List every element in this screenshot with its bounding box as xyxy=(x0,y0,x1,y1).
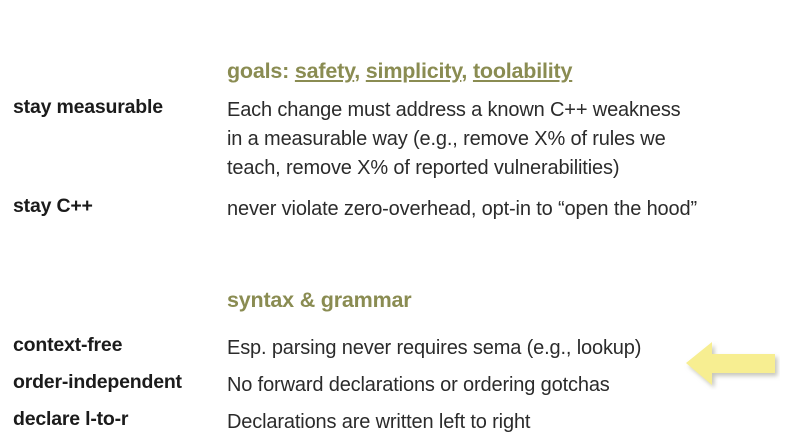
content-rows: goals: safety, simplicity, toolability s… xyxy=(0,0,788,435)
goal-item-toolability[interactable]: toolability xyxy=(473,59,572,83)
section-heading-syntax-grammar: syntax & grammar xyxy=(227,288,411,312)
row-label-stay-cpp: stay C++ xyxy=(0,195,227,218)
row-label-declare-l-to-r: declare l-to-r xyxy=(0,408,227,431)
goal-item-simplicity[interactable]: simplicity xyxy=(366,59,462,83)
goal-item-safety[interactable]: safety xyxy=(295,59,354,83)
row-text-declare-l-to-r: Declarations are written left to right xyxy=(227,408,788,435)
section-heading-row-syntax-grammar: syntax & grammar xyxy=(0,257,788,316)
row-text-stay-cpp: never violate zero-overhead, opt-in to “… xyxy=(227,195,788,224)
table-row: declare l-to-r Declarations are written … xyxy=(0,408,788,435)
row-text-stay-measurable: Each change must address a known C++ wea… xyxy=(227,96,788,183)
table-row: order-independent No forward declaration… xyxy=(0,371,788,400)
goals-separator-1: , xyxy=(354,59,366,83)
row-label-context-free: context-free xyxy=(0,334,227,357)
table-row: context-free Esp. parsing never requires… xyxy=(0,334,788,363)
row-label-order-independent: order-independent xyxy=(0,371,227,394)
row-label-stay-measurable: stay measurable xyxy=(0,96,227,119)
left-arrow-icon xyxy=(682,336,780,390)
annotation-arrow xyxy=(682,336,780,390)
table-row: stay C++ never violate zero-overhead, op… xyxy=(0,195,788,224)
slide-canvas: goals: safety, simplicity, toolability s… xyxy=(0,0,788,435)
section-heading-goals: goals: safety, simplicity, toolability xyxy=(227,59,572,83)
section-heading-row-goals: goals: safety, simplicity, toolability xyxy=(0,28,788,87)
table-row: stay measurable Each change must address… xyxy=(0,96,788,183)
goals-heading-prefix: goals: xyxy=(227,59,295,83)
goals-separator-2: , xyxy=(461,59,473,83)
